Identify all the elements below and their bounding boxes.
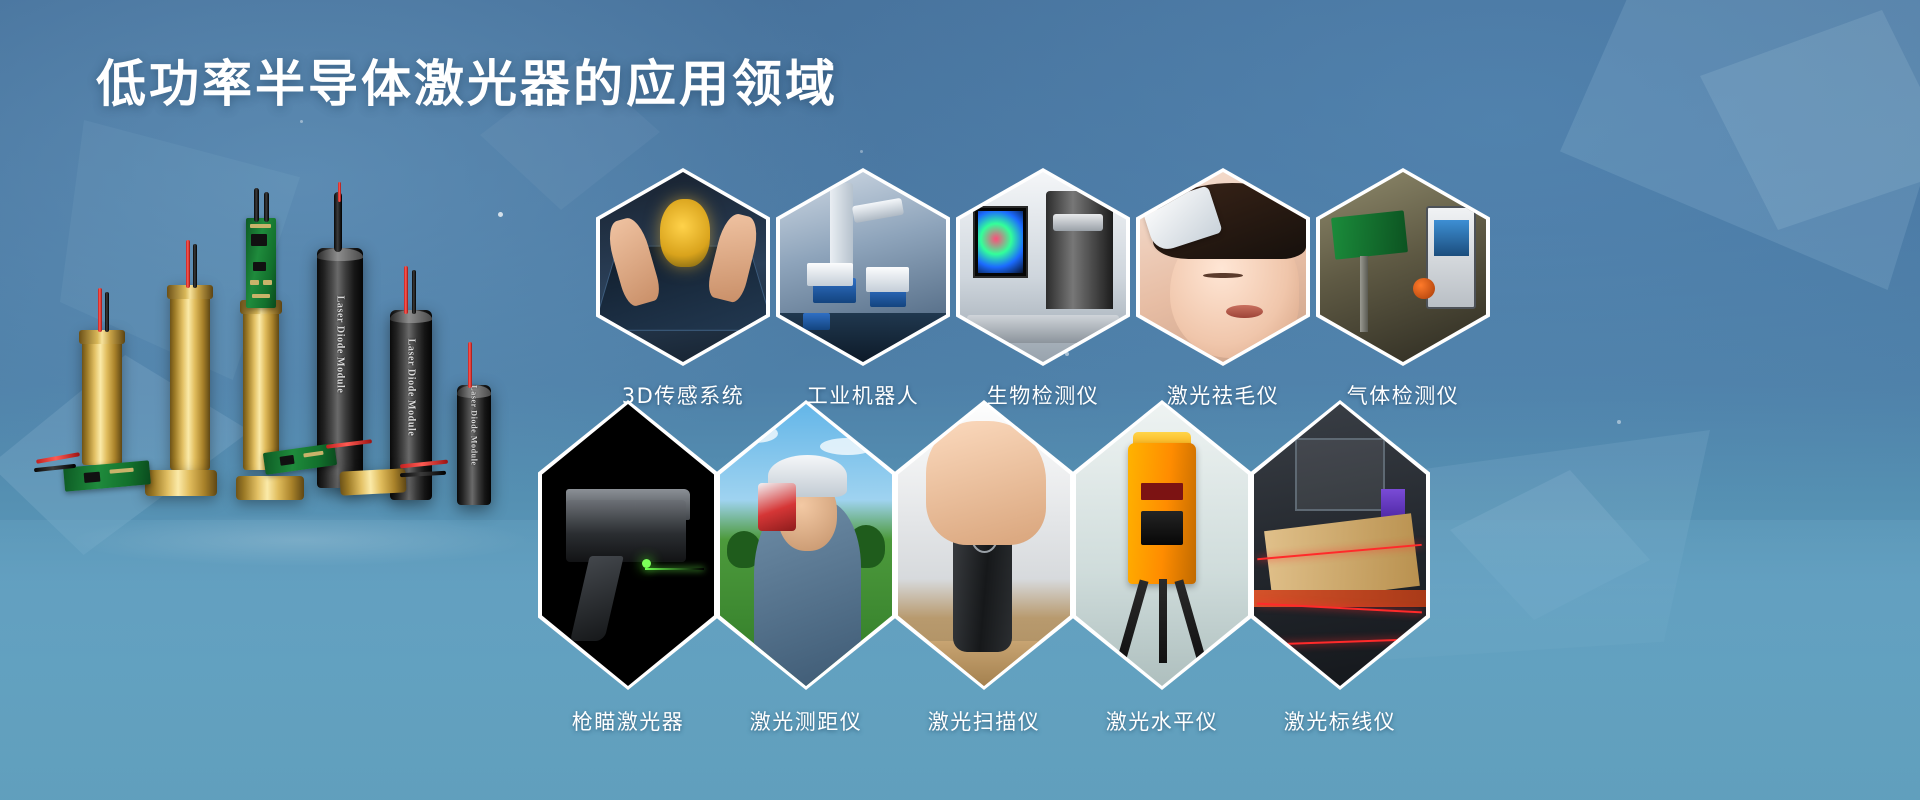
brass-module-lying — [339, 468, 406, 495]
hex-frame — [956, 168, 1130, 366]
application-card-industrial-robot[interactable]: 工业机器人 — [776, 168, 950, 410]
laser-line-marker-icon — [1254, 404, 1426, 686]
solder-pad — [250, 224, 271, 228]
application-card-3d-sensing[interactable]: 3D传感系统 — [596, 168, 770, 410]
hex-frame — [596, 168, 770, 366]
brass-module-pcb — [243, 300, 279, 470]
red-wire — [98, 288, 102, 332]
hex-image — [600, 172, 766, 362]
hex-frame — [894, 400, 1074, 690]
hex-frame — [1316, 168, 1490, 366]
brass-module-lying — [236, 476, 304, 500]
application-card-gun-sight-laser[interactable]: 枪瞄激光器 — [538, 400, 718, 736]
black-module-small: Laser Diode Module — [457, 385, 491, 505]
sparkle-dot — [300, 120, 303, 123]
solder-pad — [109, 468, 133, 474]
ic-chip — [251, 234, 267, 246]
module-label: Laser Diode Module — [335, 296, 346, 394]
bio-detector-icon — [960, 172, 1126, 362]
hex-frame — [1136, 168, 1310, 366]
pcb-board — [246, 218, 276, 308]
hex-frame — [1072, 400, 1252, 690]
sparkle-dot — [860, 150, 863, 153]
application-card-hair-removal[interactable]: 激光祛毛仪 — [1136, 168, 1310, 410]
gun-sight-laser-icon — [542, 404, 714, 686]
application-card-bio-detector[interactable]: 生物检测仪 — [956, 168, 1130, 410]
product-cluster: Laser Diode Module Laser Diode Module La… — [40, 170, 560, 570]
laser-hair-removal-icon — [1140, 172, 1306, 362]
hex-image — [1320, 172, 1486, 362]
hex-frame — [776, 168, 950, 366]
application-card-line-marker[interactable]: 激光标线仪 — [1250, 400, 1430, 736]
laser-scanner-icon — [898, 404, 1070, 686]
application-label: 激光扫描仪 — [894, 706, 1074, 736]
tube-aperture — [390, 310, 432, 323]
solder-pad — [250, 280, 259, 285]
application-card-laser-level[interactable]: 激光水平仪 — [1072, 400, 1252, 736]
solder-pad — [303, 451, 323, 458]
module-label: Laser Diode Module — [470, 385, 479, 465]
hex-image — [898, 404, 1070, 686]
application-label: 枪瞄激光器 — [538, 706, 718, 736]
ic-chip — [84, 472, 101, 483]
hex-frame — [716, 400, 896, 690]
hex-image — [960, 172, 1126, 362]
industrial-robot-icon — [780, 172, 946, 362]
brass-cap — [79, 330, 125, 344]
black-wire — [412, 270, 416, 314]
solder-pad — [252, 294, 270, 298]
solder-pad — [263, 280, 272, 285]
black-wire — [105, 292, 109, 332]
hex-image — [720, 404, 892, 686]
red-wire — [36, 452, 80, 464]
application-card-gas-detector[interactable]: 气体检测仪 — [1316, 168, 1490, 410]
black-wire — [264, 192, 269, 222]
hex-image — [542, 404, 714, 686]
laser-rangefinder-icon — [720, 404, 892, 686]
3d-sensing-icon — [600, 172, 766, 362]
hex-image — [1254, 404, 1426, 686]
brass-cap — [167, 285, 213, 299]
red-wire — [468, 342, 472, 388]
brass-module-medium — [170, 285, 210, 470]
red-wire — [186, 240, 190, 288]
ic-chip — [279, 455, 294, 466]
brass-module-lying — [145, 470, 217, 496]
application-hex-grid: 3D传感系统 工业机器人 — [560, 168, 1920, 788]
red-wire — [404, 266, 408, 314]
application-card-rangefinder[interactable]: 激光测距仪 — [716, 400, 896, 736]
application-label: 激光水平仪 — [1072, 706, 1252, 736]
hex-image — [1140, 172, 1306, 362]
application-card-laser-scanner[interactable]: 激光扫描仪 — [894, 400, 1074, 736]
gas-detector-icon — [1320, 172, 1486, 362]
application-banner: 低功率半导体激光器的应用领域 Las — [0, 0, 1920, 800]
hex-frame — [538, 400, 718, 690]
black-wire — [254, 188, 259, 222]
black-wire — [193, 244, 197, 288]
module-label: Laser Diode Module — [406, 339, 417, 437]
red-wire — [338, 182, 341, 202]
application-label: 激光标线仪 — [1250, 706, 1430, 736]
page-title: 低功率半导体激光器的应用领域 — [96, 56, 838, 114]
hex-image — [780, 172, 946, 362]
laser-level-icon — [1076, 404, 1248, 686]
hex-frame — [1250, 400, 1430, 690]
application-label: 激光测距仪 — [716, 706, 896, 736]
hex-image — [1076, 404, 1248, 686]
ic-chip — [253, 262, 266, 271]
pcb-board-lying — [63, 460, 151, 491]
brass-module-short — [82, 330, 122, 465]
